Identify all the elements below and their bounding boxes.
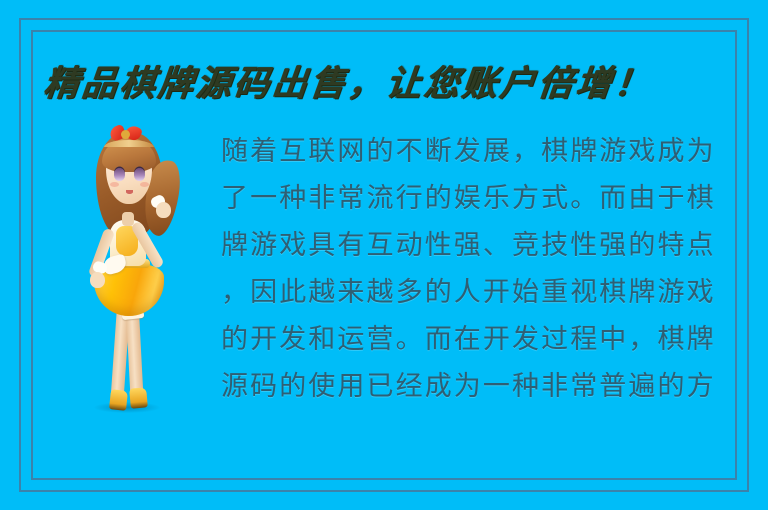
body-copy-line: ，因此越来越多的人开始重视棋牌游戏 xyxy=(221,269,737,316)
mascot-shoe-left xyxy=(109,389,128,411)
mascot-shoe-right xyxy=(129,387,148,408)
mascot-eye-right xyxy=(134,168,145,181)
body-copy-line: 随着互联网的不断发展，棋牌游戏成为 xyxy=(221,128,737,175)
body-copy-line: 的开发和运营。而在开发过程中，棋牌 xyxy=(221,316,737,363)
mascot-character-illustration xyxy=(66,116,190,414)
mascot-blush-right xyxy=(140,182,149,187)
mascot-hand-right xyxy=(156,202,171,218)
mascot-ground-shadow xyxy=(94,402,160,413)
mascot-bow-center xyxy=(121,130,130,139)
body-copy-line: 了一种非常流行的娱乐方式。而由于棋 xyxy=(221,175,737,222)
mascot-mouth xyxy=(126,190,133,194)
mascot-hand-left xyxy=(90,272,105,288)
mascot-neck xyxy=(122,212,134,226)
mascot-headband xyxy=(104,140,154,147)
promo-banner: 精品棋牌源码出售，让您账户倍增！ 随着互联网的不断发 xyxy=(0,0,768,510)
mascot-eye-left xyxy=(114,168,125,181)
headline-title: 精品棋牌源码出售，让您账户倍增！ xyxy=(41,58,706,110)
mascot-blush-left xyxy=(110,182,119,187)
body-copy-line: 源码的使用已经成为一种非常普遍的方 xyxy=(221,363,737,410)
body-copy-line: 牌游戏具有互动性强、竞技性强的特点 xyxy=(221,222,737,269)
body-copy-block: 随着互联网的不断发展，棋牌游戏成为 了一种非常流行的娱乐方式。而由于棋 牌游戏具… xyxy=(221,128,737,412)
